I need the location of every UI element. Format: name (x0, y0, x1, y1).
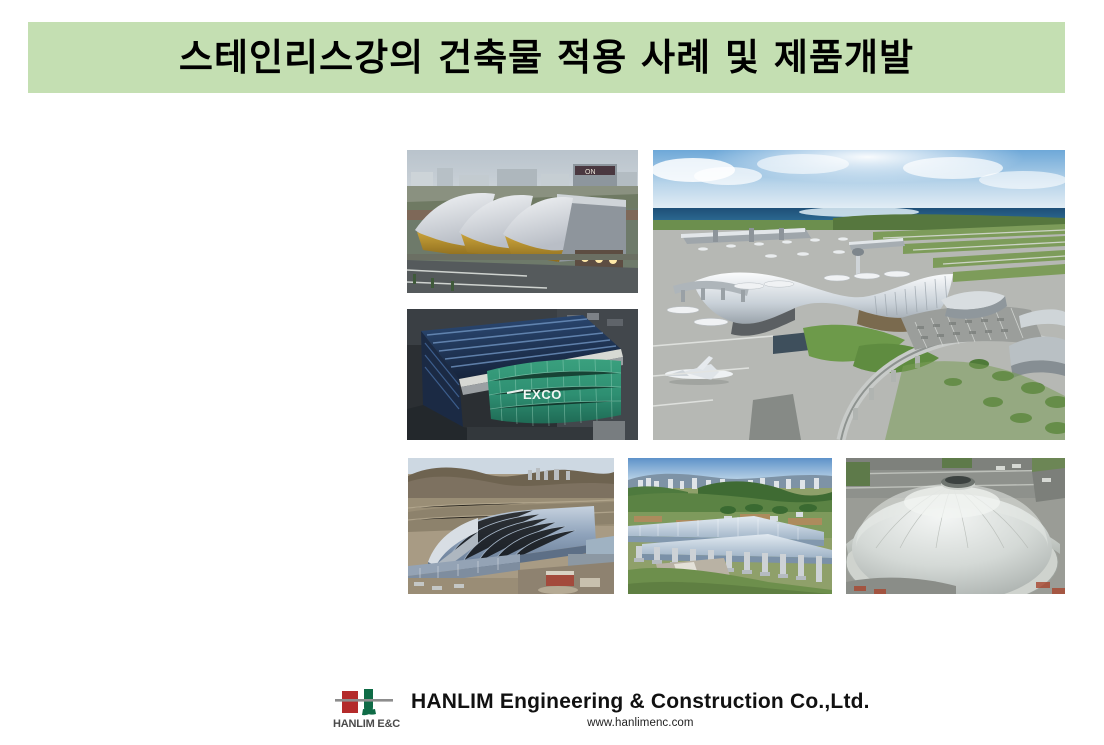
footer-text-block: HANLIM Engineering & Construction Co.,Lt… (405, 684, 870, 729)
logo-subtext: HANLIM E&C (333, 718, 400, 730)
railway-station-photo (628, 458, 832, 594)
arched-roof-depot-photo (408, 458, 614, 594)
svg-text:ON: ON (585, 169, 596, 176)
company-logo: HANLIM E&C (333, 684, 405, 740)
domed-arena-photo (846, 458, 1065, 594)
exco-building-photo: EXCO (407, 309, 638, 440)
footer-branding: HANLIM E&C HANLIM Engineering & Construc… (333, 684, 870, 740)
hanlim-logo-icon (335, 688, 393, 718)
footer: HANLIM E&C HANLIM Engineering & Construc… (0, 684, 1104, 745)
convention-center-photo: ON (407, 150, 638, 293)
airport-terminal-photo (653, 150, 1065, 440)
company-url[interactable]: www.hanlimenc.com (411, 717, 870, 729)
svg-text:EXCO: EXCO (523, 387, 562, 402)
company-name: HANLIM Engineering & Construction Co.,Lt… (411, 684, 870, 713)
photo-gallery: ON (0, 0, 1104, 745)
